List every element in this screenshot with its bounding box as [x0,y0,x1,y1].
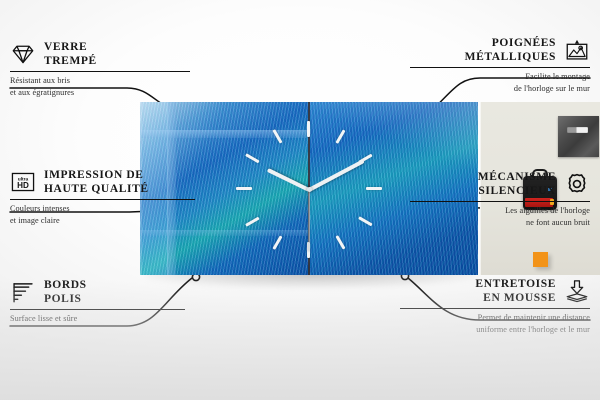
second-hand [308,190,309,252]
title-line-1: VERRE [44,40,97,54]
hour-tick-1 [335,129,345,143]
svg-text:HD: HD [17,181,29,190]
hour-tick-9 [236,187,252,190]
feature-description: Les aiguilles de l'horloge ne font aucun… [410,205,590,228]
desc-line-1: Permet de maintenir une distance [400,312,590,323]
title-line-2: MÉTALLIQUES [465,50,556,64]
desc-line-2: et image claire [10,215,195,226]
feature-title: ENTRETOISE EN MOUSSE [475,277,556,305]
feature-poignees-metalliques: POIGNÉES MÉTALLIQUES Facilite le montage… [410,36,590,94]
feature-bords-polis: BORDS POLIS Surface lisse et sûre [10,278,185,325]
desc-line-1: Facilite le montage [410,71,590,82]
clock-hub [307,187,312,192]
feature-verre-trempe: VERRE TREMPÉ Résistant aux bris et aux é… [10,40,190,98]
hour-tick-12 [307,121,310,137]
desc-line-2: uniforme entre l'horloge et le mur [400,324,590,335]
feature-description: Résistant aux bris et aux égratignures [10,75,190,98]
ultra-hd-icon: ultra HD [10,169,36,195]
picture-hanger-icon [564,37,590,63]
feature-description: Couleurs intenses et image claire [10,203,195,226]
minute-hand [308,159,365,192]
feature-description: Facilite le montage de l'horloge sur le … [410,71,590,94]
title-line-2: TREMPÉ [44,54,97,68]
title-line-2: SILENCIEUX [478,184,556,198]
title-line-2: HAUTE QUALITÉ [44,182,149,196]
gear-icon [564,171,590,197]
hour-tick-5 [335,235,345,249]
feature-divider [10,199,195,200]
polished-edge-icon [10,279,36,305]
feature-description: Permet de maintenir une distance uniform… [400,312,590,335]
hour-tick-3 [366,187,382,190]
foam-spacer [533,252,548,267]
feature-header: ENTRETOISE EN MOUSSE [400,277,590,305]
desc-line-1: Résistant aux bris [10,75,190,86]
metal-hanger-plate [558,116,599,157]
feature-title: POIGNÉES MÉTALLIQUES [465,36,556,64]
feature-header: VERRE TREMPÉ [10,40,190,68]
feature-header: BORDS POLIS [10,278,185,306]
hour-tick-8 [245,217,259,227]
feature-divider [400,308,590,309]
hanger-slot [567,127,588,133]
title-line-2: POLIS [44,292,87,306]
title-line-1: MÉCANISME [478,170,556,184]
feature-title: IMPRESSION DE HAUTE QUALITÉ [44,168,149,196]
desc-line-1: Couleurs intenses [10,203,195,214]
feature-impression-haute-qualite: ultra HD IMPRESSION DE HAUTE QUALITÉ Cou… [10,168,195,226]
feature-title: BORDS POLIS [44,278,87,306]
diamond-icon [10,41,36,67]
desc-line-2: ne font aucun bruit [410,217,590,228]
hour-tick-7 [272,235,282,249]
feature-mecanisme-silencieux: MÉCANISME SILENCIEUX Les aiguilles de l'… [410,170,590,228]
feature-divider [410,201,590,202]
hour-hand [267,168,310,192]
desc-line-1: Surface lisse et sûre [10,313,185,324]
title-line-2: EN MOUSSE [475,291,556,305]
hour-tick-10 [245,154,259,164]
feature-header: ultra HD IMPRESSION DE HAUTE QUALITÉ [10,168,195,196]
title-line-1: IMPRESSION DE [44,168,149,182]
feature-header: POIGNÉES MÉTALLIQUES [410,36,590,64]
feature-title: MÉCANISME SILENCIEUX [478,170,556,198]
feature-divider [10,71,190,72]
title-line-1: ENTRETOISE [475,277,556,291]
feature-entretoise-en-mousse: ENTRETOISE EN MOUSSE Permet de maintenir… [400,277,590,335]
feature-header: MÉCANISME SILENCIEUX [410,170,590,198]
feature-title: VERRE TREMPÉ [44,40,97,68]
title-line-1: BORDS [44,278,87,292]
infographic-canvas: VERRE TREMPÉ Résistant aux bris et aux é… [0,0,600,400]
title-line-1: POIGNÉES [465,36,556,50]
desc-line-2: de l'horloge sur le mur [410,83,590,94]
feature-divider [10,309,185,310]
desc-line-2: et aux égratignures [10,87,190,98]
feature-divider [410,67,590,68]
desc-line-1: Les aiguilles de l'horloge [410,205,590,216]
hour-tick-4 [358,217,372,227]
foam-spacer-icon [564,278,590,304]
hour-tick-11 [272,129,282,143]
feature-description: Surface lisse et sûre [10,313,185,324]
